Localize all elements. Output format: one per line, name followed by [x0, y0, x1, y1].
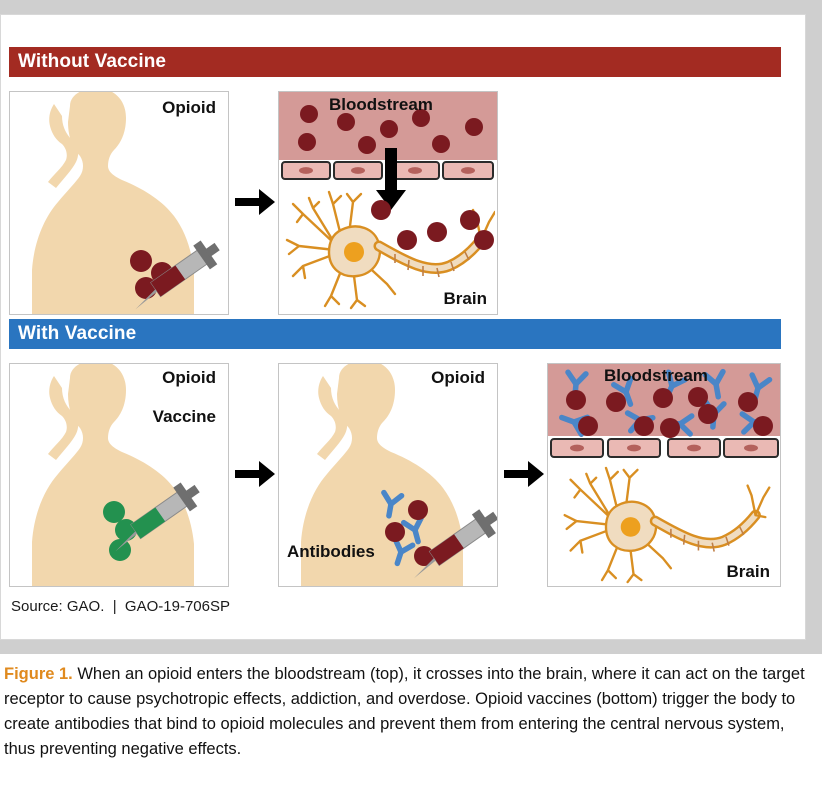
syringe-icon — [10, 92, 229, 315]
separator-band — [0, 640, 822, 654]
label-line-opioid: Opioid — [162, 368, 216, 387]
section-header-with-vaccine: With Vaccine — [9, 319, 781, 349]
figure-page: Without Vaccine — [0, 0, 822, 789]
panel-injection-without-vaccine[interactable]: Opioid — [9, 91, 229, 315]
section-title-with-vaccine: With Vaccine — [18, 323, 136, 345]
panel-label-bloodstream: Bloodstream — [604, 366, 708, 386]
panel-brain-crossing-without-vaccine[interactable]: Bloodstream Brain — [278, 91, 498, 315]
source-line: Source: GAO. | GAO-19-706SP — [11, 598, 230, 615]
top-gray-band — [0, 0, 822, 14]
right-arrow-icon — [235, 187, 275, 217]
section-title-without-vaccine: Without Vaccine — [18, 51, 166, 73]
caption-prefix: Figure 1. — [4, 665, 73, 683]
blood-brain-barrier-cell-icon-group — [548, 436, 781, 462]
right-arrow-icon — [504, 459, 544, 489]
panel-antibody-production[interactable]: Opioid Antibodies — [278, 363, 498, 587]
right-arrow-icon — [235, 459, 275, 489]
section-header-without-vaccine: Without Vaccine — [9, 47, 781, 77]
right-gray-band — [806, 0, 822, 652]
caption-text: When an opioid enters the bloodstream (t… — [4, 665, 805, 758]
label-line-vaccine: Vaccine — [153, 407, 216, 426]
panel-label-brain: Brain — [444, 289, 487, 309]
panel-label-opioid-vaccine: Opioid Vaccine — [153, 368, 216, 427]
panel-label-antibodies: Antibodies — [287, 542, 375, 562]
figure-caption: Figure 1. When an opioid enters the bloo… — [4, 662, 816, 762]
panel-vaccination-with-vaccine[interactable]: Opioid Vaccine — [9, 363, 229, 587]
panel-label-bloodstream: Bloodstream — [329, 95, 433, 115]
panel-label-opioid: Opioid — [431, 368, 485, 388]
figure-card: Without Vaccine — [0, 14, 806, 640]
panel-label-opioid: Opioid — [162, 98, 216, 118]
panel-label-brain: Brain — [727, 562, 770, 582]
panel-blocked-at-barrier[interactable]: Bloodstream Brain — [547, 363, 781, 587]
